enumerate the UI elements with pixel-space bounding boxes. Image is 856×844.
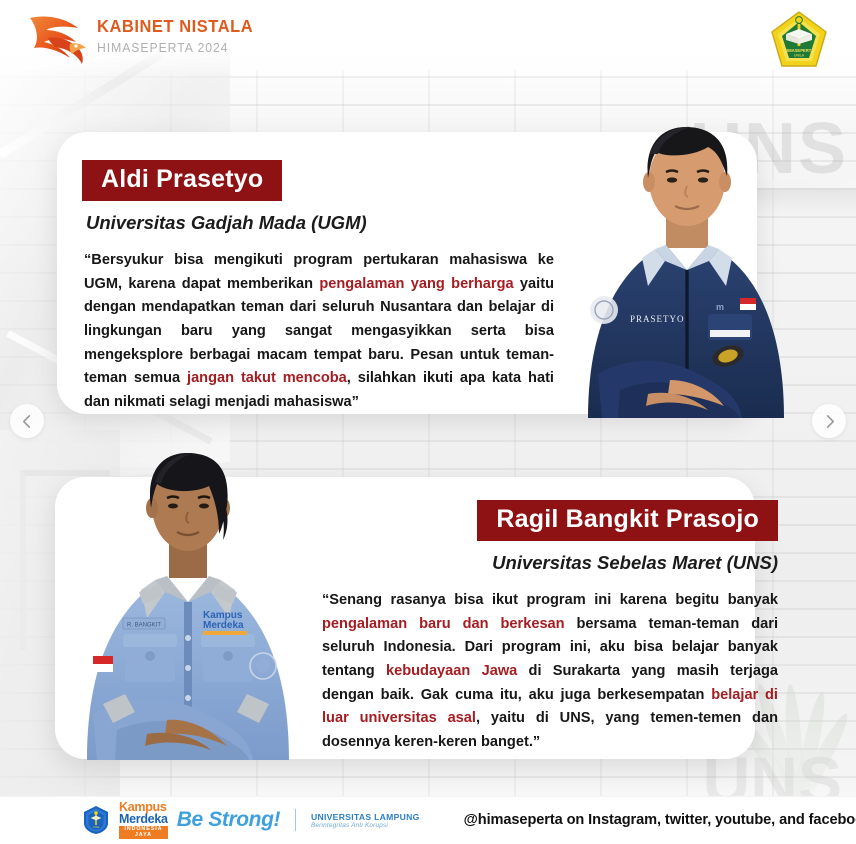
- organization-name: HIMASEPERTA 2024: [97, 41, 253, 54]
- quote-highlight: pengalaman yang berharga: [319, 276, 513, 292]
- social-handles-text: @himaseperta on Instagram, twitter, yout…: [464, 812, 856, 828]
- svg-text:Unila: Unila: [93, 825, 99, 829]
- himaseperta-emblem-icon: HIMASEPERTA UNILA: [768, 10, 830, 72]
- testimonial-content: Ragil Bangkit Prasojo Universitas Sebela…: [322, 500, 778, 754]
- quote-highlight: jangan takut mencoba: [187, 370, 347, 386]
- quote-text: “Senang rasanya bisa ikut program ini ka…: [322, 592, 778, 608]
- cabinet-name: KABINET NISTALA: [97, 18, 253, 36]
- student-name-banner: Ragil Bangkit Prasojo: [477, 500, 778, 541]
- student-quote: “Senang rasanya bisa ikut program ini ka…: [322, 589, 778, 754]
- svg-text:UNILA: UNILA: [794, 53, 805, 57]
- footer-logo-group: Unila Kampus Merdeka INDONESIA JAYA Be S…: [82, 801, 420, 839]
- kampus-merdeka-line3: INDONESIA JAYA: [119, 826, 168, 839]
- svg-text:HIMASEPERTA: HIMASEPERTA: [784, 48, 814, 53]
- unila-tagline: Berintegritas Anti Korupsi: [311, 822, 420, 829]
- kampus-merdeka-logo: Kampus Merdeka INDONESIA JAYA: [119, 801, 168, 839]
- carousel-next-button[interactable]: [812, 404, 846, 438]
- chevron-right-icon: [822, 414, 837, 429]
- chevron-left-icon: [20, 414, 35, 429]
- quote-highlight: kebudayaan Jawa: [386, 663, 517, 679]
- unila-seal-icon: Unila: [82, 805, 110, 835]
- phoenix-logo-icon: [26, 8, 90, 70]
- student-university: Universitas Gadjah Mada (UGM): [86, 212, 554, 234]
- student-quote: “Bersyukur bisa mengikuti program pertuk…: [84, 249, 554, 414]
- page-header: KABINET NISTALA HIMASEPERTA 2024 HIMASEP…: [0, 0, 856, 82]
- header-title-group: KABINET NISTALA HIMASEPERTA 2024: [97, 18, 263, 54]
- student-university: Universitas Sebelas Maret (UNS): [322, 552, 778, 574]
- kampus-merdeka-line2: Merdeka: [119, 813, 168, 825]
- footer-divider: [0, 796, 856, 797]
- student-name-banner: Aldi Prasetyo: [82, 160, 282, 201]
- be-strong-wordmark: Be Strong!: [177, 808, 280, 832]
- carousel-prev-button[interactable]: [10, 404, 44, 438]
- page-footer: Unila Kampus Merdeka INDONESIA JAYA Be S…: [0, 796, 856, 844]
- unila-wordmark: UNIVERSITAS LAMPUNG Berintegritas Anti K…: [311, 812, 420, 829]
- testimonial-content: Aldi Prasetyo Universitas Gadjah Mada (U…: [84, 160, 554, 414]
- quote-highlight: pengalaman baru dan berkesan: [322, 616, 565, 632]
- footer-logo-divider: [295, 809, 296, 831]
- unila-name: UNIVERSITAS LAMPUNG: [311, 812, 420, 822]
